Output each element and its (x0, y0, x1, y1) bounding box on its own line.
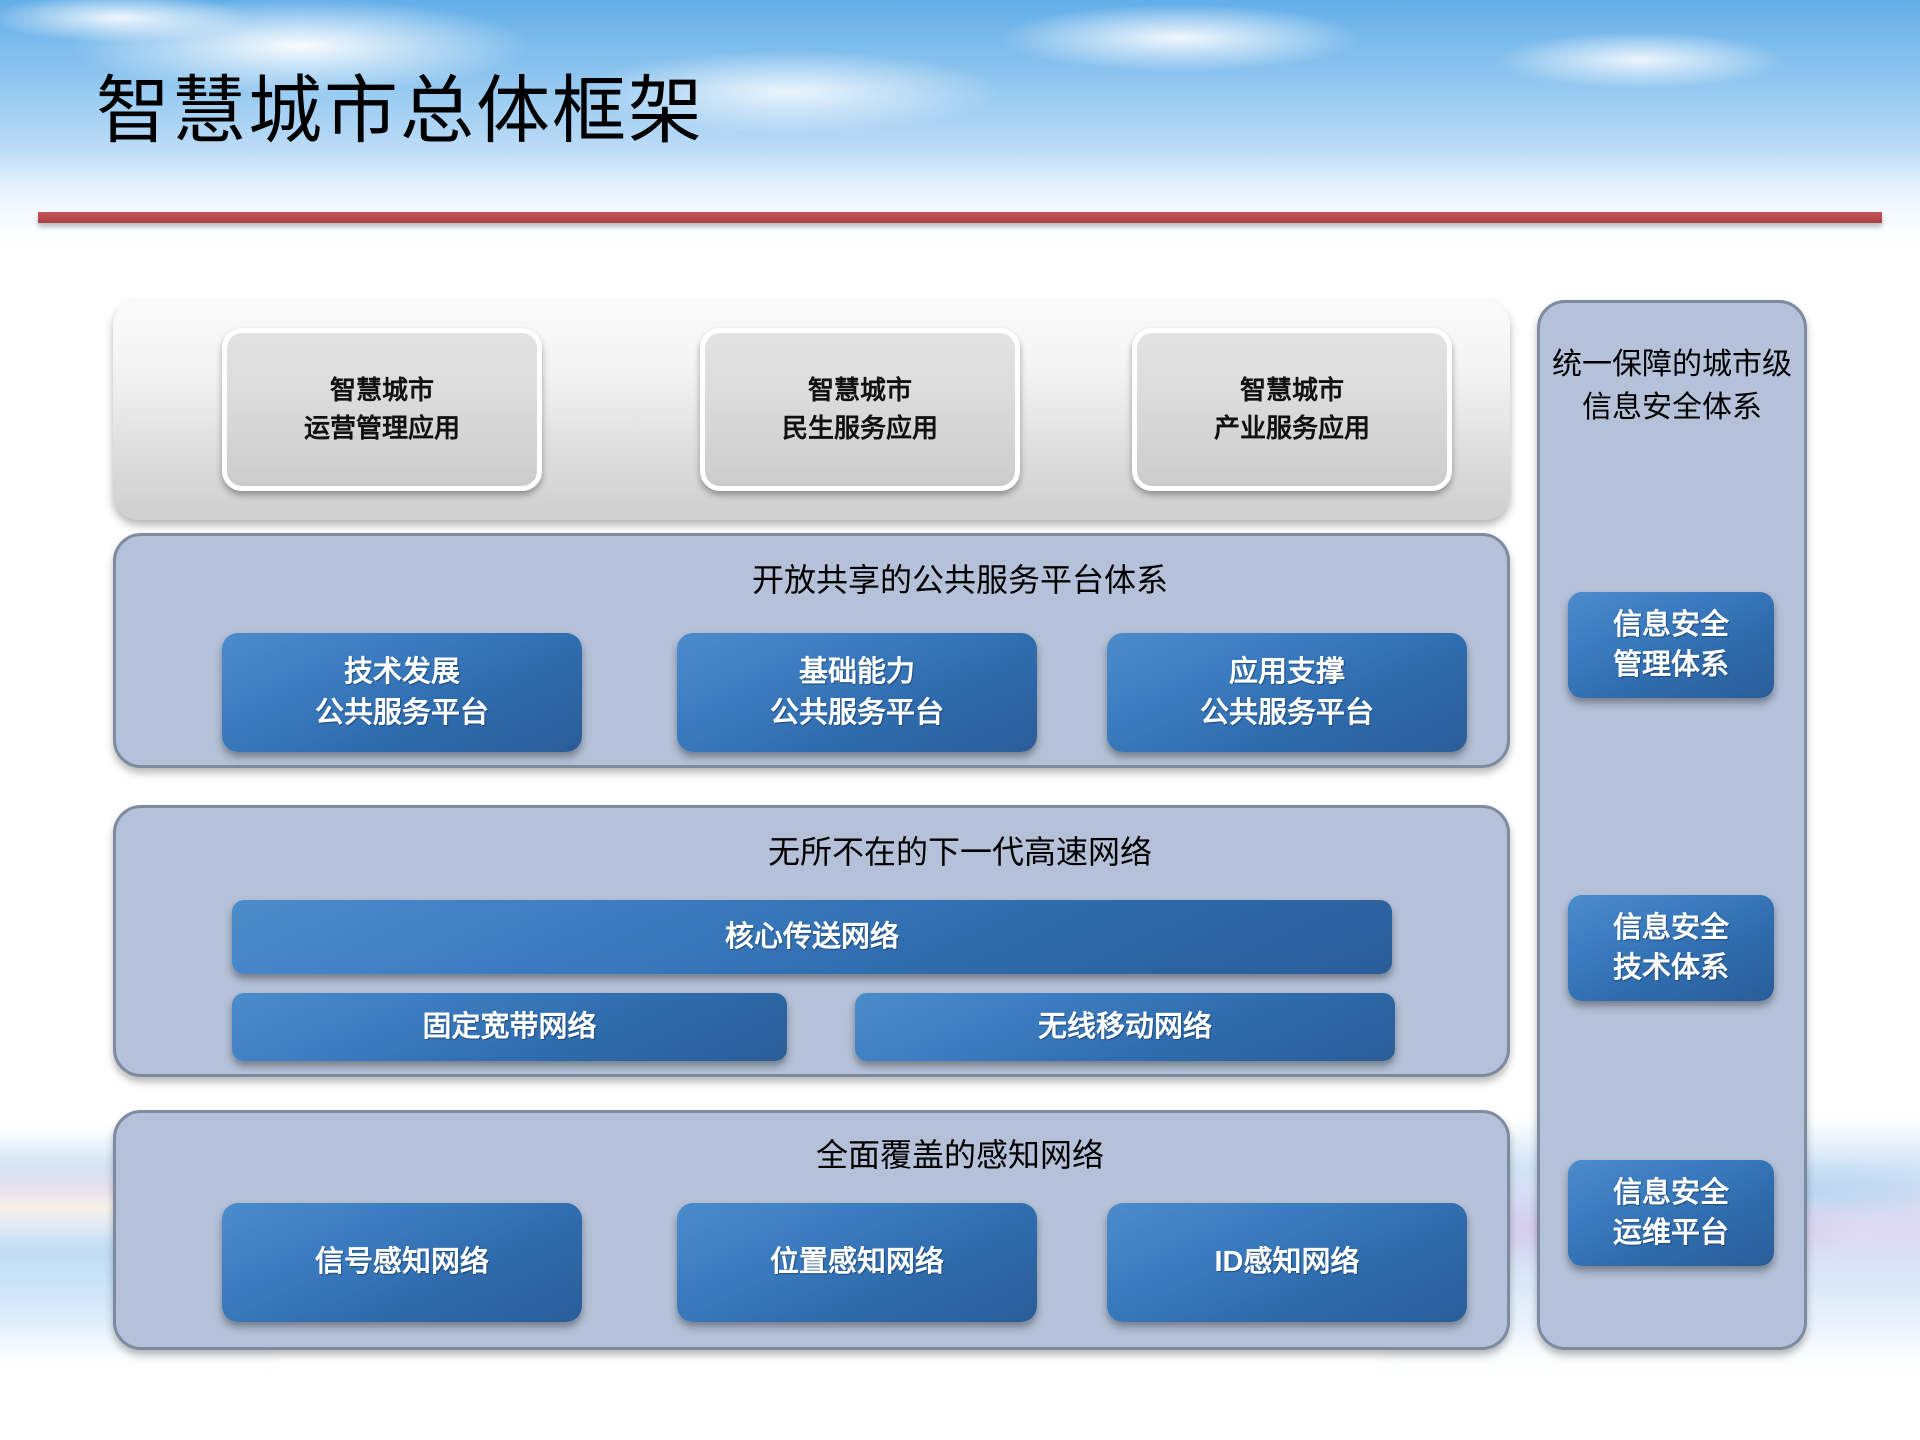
sensing-button-signal-network[interactable]: 信号感知网络 (222, 1203, 582, 1322)
platform-button-technology-development[interactable]: 技术发展 公共服务平台 (222, 633, 582, 752)
security-button-operations-platform[interactable]: 信息安全 运维平台 (1568, 1160, 1774, 1266)
application-card-industry[interactable]: 智慧城市 产业服务应用 (1132, 328, 1452, 491)
platform-button-basic-capability[interactable]: 基础能力 公共服务平台 (677, 633, 1037, 752)
network-layer-title: 无所不在的下一代高速网络 (0, 827, 1920, 873)
network-button-core-transport[interactable]: 核心传送网络 (232, 900, 1392, 974)
network-button-wireless-mobile[interactable]: 无线移动网络 (855, 993, 1395, 1061)
page-title: 智慧城市总体框架 (96, 72, 704, 150)
security-button-technology-system[interactable]: 信息安全 技术体系 (1568, 895, 1774, 1001)
security-button-management-system[interactable]: 信息安全 管理体系 (1568, 592, 1774, 698)
application-card-operations[interactable]: 智慧城市 运营管理应用 (222, 328, 542, 491)
application-card-livelihood[interactable]: 智慧城市 民生服务应用 (700, 328, 1020, 491)
sensing-button-id-network[interactable]: ID感知网络 (1107, 1203, 1467, 1322)
sensing-button-location-network[interactable]: 位置感知网络 (677, 1203, 1037, 1322)
security-sidebar-title: 统一保障的城市级信息安全体系 (1550, 344, 1794, 429)
network-button-fixed-broadband[interactable]: 固定宽带网络 (232, 993, 787, 1061)
title-divider-rule (38, 212, 1882, 223)
platform-button-application-support[interactable]: 应用支撑 公共服务平台 (1107, 633, 1467, 752)
